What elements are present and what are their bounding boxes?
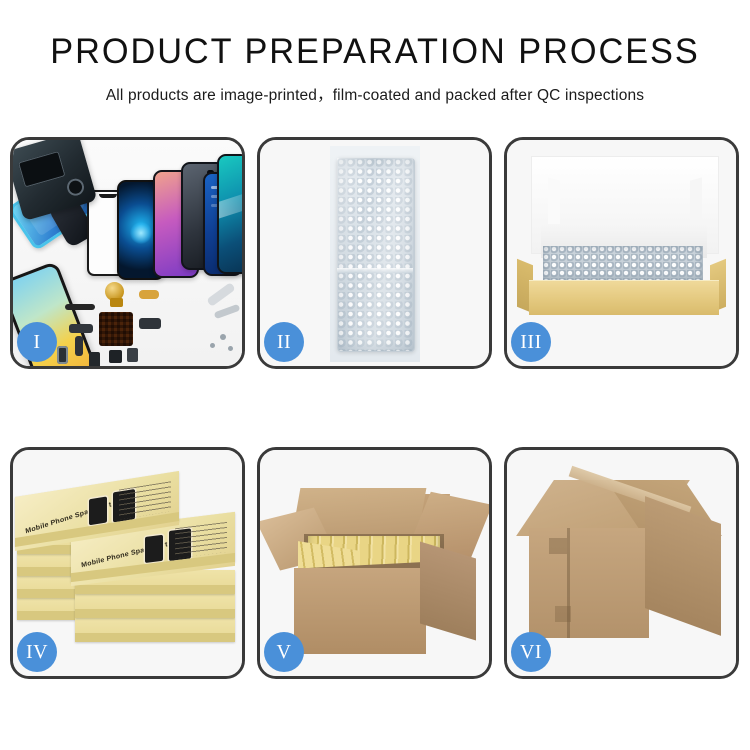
part-flex-cable-4-graphic (139, 318, 161, 329)
bubble-wrap-gloss-graphic (337, 158, 413, 350)
phone-screen-teal-graphic (217, 154, 242, 274)
part-module-2-graphic (127, 348, 138, 362)
part-camera-graphic (57, 346, 68, 364)
box-edge-graphic (75, 633, 235, 642)
part-module-3-graphic (89, 352, 100, 366)
box-bubble-contents-graphic (543, 246, 703, 282)
step-badge-2: II (264, 322, 304, 362)
sealed-carton-tab-2-graphic (555, 606, 571, 622)
step-badge-4: IV (17, 632, 57, 672)
box-screen-art (145, 535, 163, 563)
part-screw-3-graphic (228, 346, 233, 351)
carton-side-panel-graphic (420, 541, 476, 640)
process-step-panel-6[interactable]: VI (504, 447, 739, 679)
sealed-carton-front-graphic (529, 528, 649, 638)
part-screw-graphic (220, 334, 226, 340)
box-edge-graphic (75, 609, 235, 618)
process-step-panel-1[interactable]: I (10, 137, 245, 369)
process-step-panel-4[interactable]: Mobile Phone Spare Parts Mobile Phone Sp… (10, 447, 245, 679)
part-flex-cable-graphic (69, 324, 93, 333)
box-edge-graphic (75, 585, 235, 594)
stacked-box (75, 618, 235, 642)
part-strip-graphic (65, 304, 95, 310)
process-step-panel-2[interactable]: II (257, 137, 492, 369)
stacked-box (75, 594, 235, 618)
step-badge-6: VI (511, 632, 551, 672)
step-badge-1: I (17, 322, 57, 362)
part-module-graphic (109, 350, 122, 363)
carton-front-panel-graphic (294, 568, 426, 654)
page-title: PRODUCT PREPARATION PROCESS (8, 34, 743, 69)
part-chip-grid-graphic (99, 312, 133, 346)
process-panel-grid: I II III (10, 137, 740, 679)
header: PRODUCT PREPARATION PROCESS All products… (0, 0, 750, 105)
part-flex-cable-2-graphic (75, 336, 83, 356)
part-connector-graphic (110, 298, 123, 307)
box-screen-art (89, 496, 107, 525)
box-front-panel-graphic (529, 280, 719, 315)
page-subtitle: All products are image-printed，film-coat… (0, 83, 750, 105)
box-spec-text-graphic (175, 522, 227, 558)
process-step-panel-3[interactable]: III (504, 137, 739, 369)
sealed-carton-tab-graphic (549, 538, 567, 554)
process-step-panel-5[interactable]: V (257, 447, 492, 679)
step-badge-5: V (264, 632, 304, 672)
part-flex-cable-3-graphic (139, 290, 159, 299)
part-screw-2-graphic (210, 343, 215, 348)
step-badge-3: III (511, 322, 551, 362)
